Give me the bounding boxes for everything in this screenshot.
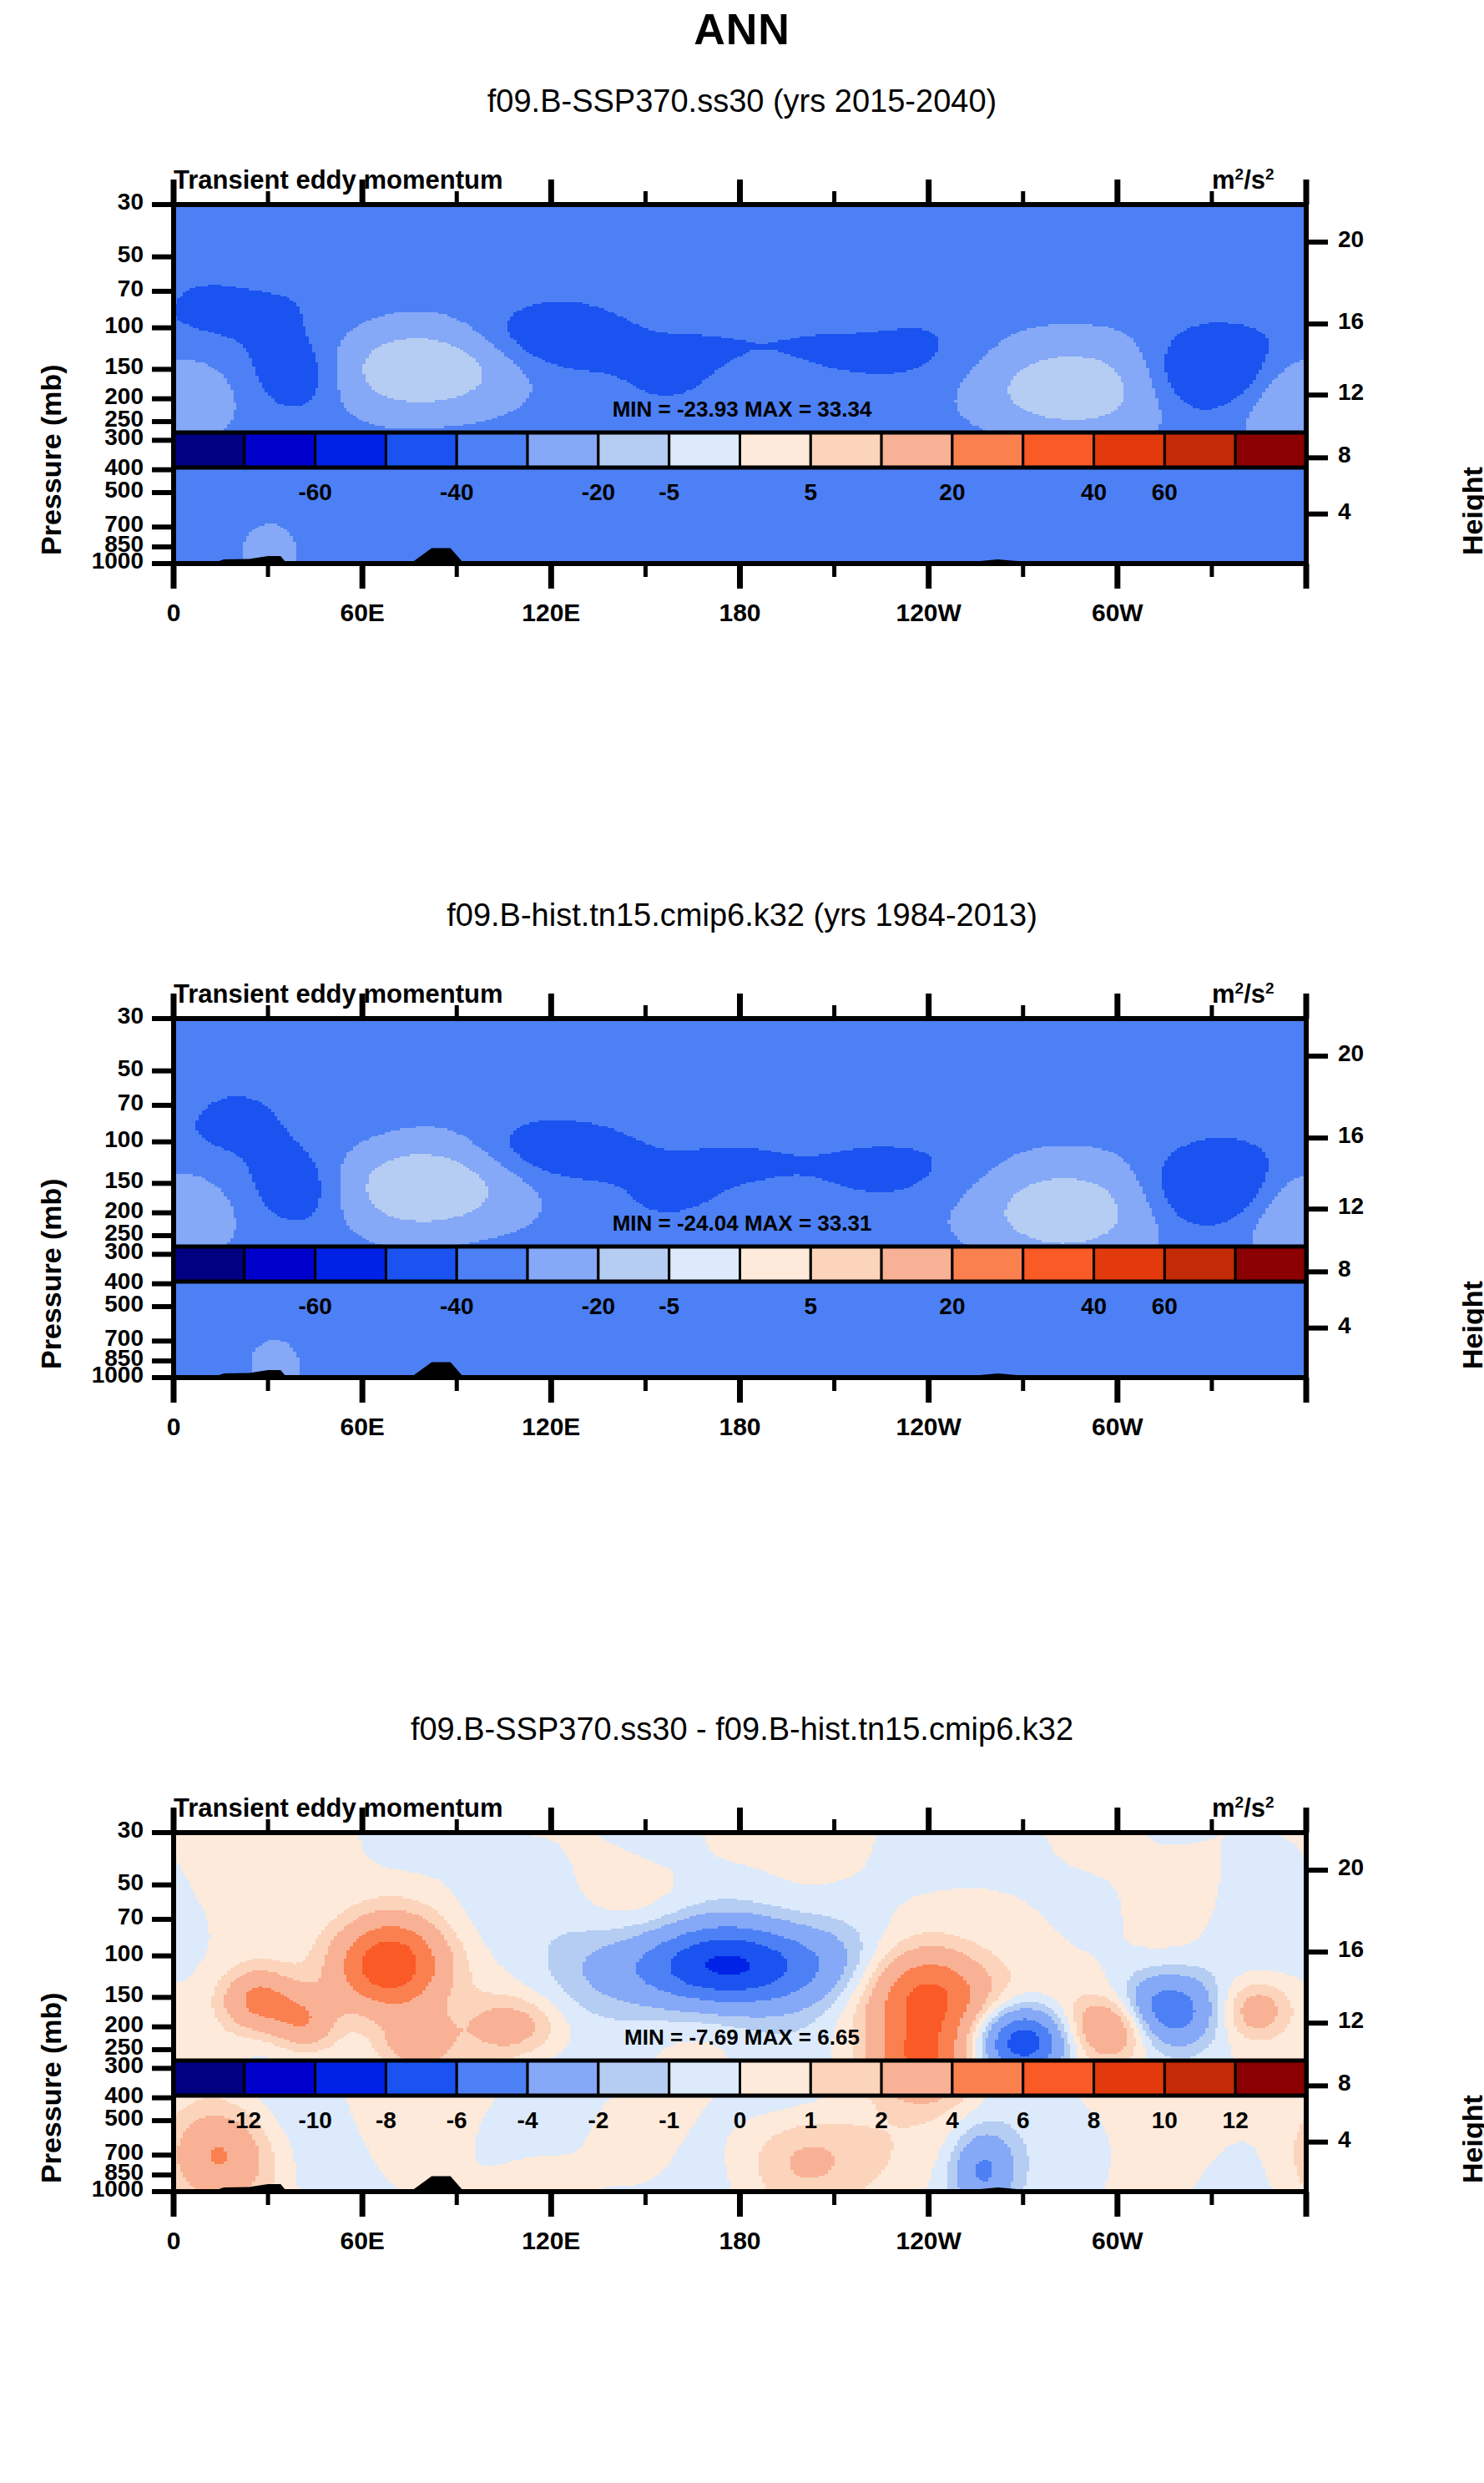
height-tick-label: 20 xyxy=(1338,1854,1364,1881)
height-tick-label: 16 xyxy=(1338,308,1364,335)
panel-0-colorbar xyxy=(0,417,1484,509)
colorbar-tick-label: -60 xyxy=(265,1293,366,1320)
height-tick-label: 20 xyxy=(1338,1040,1364,1067)
pressure-tick-label: 300 xyxy=(0,2052,144,2079)
longitude-tick-label: 60W xyxy=(1059,1413,1176,1441)
height-tick-label: 16 xyxy=(1338,1122,1364,1149)
pressure-tick-label: 1000 xyxy=(0,548,144,574)
height-tick-label: 4 xyxy=(1338,498,1351,525)
colorbar-tick-label: 5 xyxy=(760,1293,861,1320)
pressure-axis-title: Pressure (mb) xyxy=(35,1992,68,2183)
height-tick-label: 12 xyxy=(1338,1193,1364,1220)
pressure-tick-label: 150 xyxy=(0,1167,144,1194)
height-tick-label: 8 xyxy=(1338,2070,1351,2096)
height-tick-label: 12 xyxy=(1338,379,1364,406)
pressure-tick-label: 30 xyxy=(0,1817,144,1843)
height-tick-label: 12 xyxy=(1338,2007,1364,2034)
longitude-tick-label: 120E xyxy=(492,1413,609,1441)
longitude-tick-label: 60E xyxy=(304,599,421,627)
pressure-tick-label: 150 xyxy=(0,353,144,380)
colorbar-tick-label: 60 xyxy=(1114,479,1214,506)
height-tick-label: 8 xyxy=(1338,442,1351,468)
longitude-tick-label: 60E xyxy=(304,1413,421,1441)
colorbar-tick-label: 60 xyxy=(1114,1293,1214,1320)
pressure-tick-label: 1000 xyxy=(0,2176,144,2202)
longitude-tick-label: 0 xyxy=(115,599,232,627)
height-axis-title: Height (km) xyxy=(1456,1281,1484,1369)
longitude-tick-label: 120E xyxy=(492,599,609,627)
colorbar-tick-label: -40 xyxy=(406,1293,507,1320)
height-tick-label: 4 xyxy=(1338,1312,1351,1339)
longitude-tick-label: 0 xyxy=(115,1413,232,1441)
pressure-tick-label: 50 xyxy=(0,1869,144,1896)
colorbar-tick-label: -60 xyxy=(265,479,366,506)
longitude-tick-label: 180 xyxy=(682,1413,799,1441)
pressure-tick-label: 500 xyxy=(0,1291,144,1317)
pressure-tick-label: 70 xyxy=(0,1904,144,1930)
longitude-tick-label: 120W xyxy=(871,1413,987,1441)
pressure-tick-label: 500 xyxy=(0,477,144,503)
longitude-tick-label: 180 xyxy=(682,2227,799,2255)
main-title: ANN xyxy=(0,4,1484,54)
pressure-tick-label: 50 xyxy=(0,1055,144,1082)
pressure-tick-label: 50 xyxy=(0,241,144,268)
height-axis-title: Height (km) xyxy=(1456,467,1484,555)
colorbar-tick-label: 20 xyxy=(902,479,1002,506)
panel-1-colorbar xyxy=(0,1231,1484,1323)
pressure-tick-label: 100 xyxy=(0,1940,144,1967)
pressure-axis-title: Pressure (mb) xyxy=(35,364,68,555)
pressure-tick-label: 300 xyxy=(0,1238,144,1265)
height-tick-label: 4 xyxy=(1338,2126,1351,2153)
longitude-tick-label: 60W xyxy=(1059,599,1176,627)
pressure-tick-label: 100 xyxy=(0,1126,144,1153)
longitude-tick-label: 120W xyxy=(871,2227,987,2255)
longitude-tick-label: 60E xyxy=(304,2227,421,2255)
pressure-tick-label: 30 xyxy=(0,189,144,215)
figure-root: ANN f09.B-SSP370.ss30 (yrs 2015-2040) Tr… xyxy=(0,0,1484,2483)
height-axis-title: Height (km) xyxy=(1456,2095,1484,2183)
height-tick-label: 8 xyxy=(1338,1256,1351,1282)
pressure-tick-label: 70 xyxy=(0,1090,144,1116)
panel-0: f09.B-SSP370.ss30 (yrs 2015-2040) Transi… xyxy=(0,83,1484,885)
pressure-axis-title: Pressure (mb) xyxy=(35,1178,68,1369)
longitude-tick-label: 0 xyxy=(115,2227,232,2255)
colorbar-tick-label: 12 xyxy=(1185,2107,1285,2134)
colorbar-tick-label: -5 xyxy=(619,1293,719,1320)
pressure-tick-label: 100 xyxy=(0,312,144,339)
colorbar-tick-label: -40 xyxy=(406,479,507,506)
height-tick-label: 20 xyxy=(1338,226,1364,253)
longitude-tick-label: 120W xyxy=(871,599,987,627)
pressure-tick-label: 500 xyxy=(0,2105,144,2132)
panel-1: f09.B-hist.tn15.cmip6.k32 (yrs 1984-2013… xyxy=(0,898,1484,1699)
colorbar-tick-label: -5 xyxy=(619,479,719,506)
colorbar-tick-label: 20 xyxy=(902,1293,1002,1320)
longitude-tick-label: 180 xyxy=(682,599,799,627)
pressure-tick-label: 1000 xyxy=(0,1362,144,1388)
height-tick-label: 16 xyxy=(1338,1936,1364,1963)
longitude-tick-label: 120E xyxy=(492,2227,609,2255)
longitude-tick-label: 60W xyxy=(1059,2227,1176,2255)
pressure-tick-label: 70 xyxy=(0,276,144,302)
panel-2: f09.B-SSP370.ss30 - f09.B-hist.tn15.cmip… xyxy=(0,1712,1484,2483)
pressure-tick-label: 150 xyxy=(0,1981,144,2008)
colorbar-tick-label: 5 xyxy=(760,479,861,506)
pressure-tick-label: 300 xyxy=(0,424,144,451)
pressure-tick-label: 30 xyxy=(0,1003,144,1029)
